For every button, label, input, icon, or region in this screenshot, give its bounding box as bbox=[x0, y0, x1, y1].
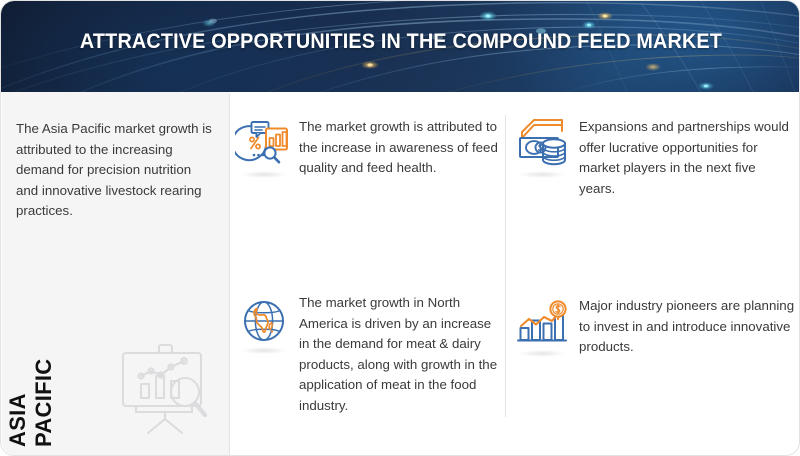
region-label-line2: PACIFIC bbox=[31, 359, 56, 447]
chart-board-magnifier-icon bbox=[114, 337, 218, 437]
globe-icon bbox=[235, 292, 293, 350]
info-item-text: Major industry pioneers are planning to … bbox=[571, 295, 795, 358]
info-item-text: The market growth in North America is dr… bbox=[293, 292, 501, 416]
icon-shadow bbox=[241, 347, 287, 354]
infographic-frame: ATTRACTIVE OPPORTUNITIES IN THE COMPOUND… bbox=[0, 0, 800, 456]
left-panel-description: The Asia Pacific market growth is attrib… bbox=[16, 119, 216, 222]
left-region-panel: The Asia Pacific market growth is attrib… bbox=[2, 92, 229, 455]
cash-coins-icon bbox=[513, 116, 571, 174]
info-item-text: The market growth is attributed to the i… bbox=[293, 116, 501, 179]
info-item-north-america-growth: The market growth in North America is dr… bbox=[235, 292, 501, 416]
pie-chart-analysis-icon bbox=[235, 116, 293, 174]
info-item-industry-pioneers-invest: Major industry pioneers are planning to … bbox=[513, 295, 795, 358]
region-label: ASIA PACIFIC bbox=[8, 327, 118, 447]
info-item-text: Expansions and partnerships would offer … bbox=[571, 116, 795, 199]
bar-chart-growth-dollar-icon bbox=[513, 295, 571, 353]
page-title: ATTRACTIVE OPPORTUNITIES IN THE COMPOUND… bbox=[33, 29, 769, 54]
header-banner: ATTRACTIVE OPPORTUNITIES IN THE COMPOUND… bbox=[1, 1, 800, 92]
region-label-line1: ASIA bbox=[5, 393, 30, 447]
icon-shadow bbox=[241, 171, 287, 178]
info-item-expansions-partnerships: Expansions and partnerships would offer … bbox=[513, 116, 795, 199]
divider-left bbox=[229, 93, 230, 455]
icon-shadow bbox=[519, 350, 565, 357]
info-item-market-growth-awareness: The market growth is attributed to the i… bbox=[235, 116, 501, 179]
icon-shadow bbox=[519, 171, 565, 178]
divider-middle bbox=[505, 115, 506, 417]
